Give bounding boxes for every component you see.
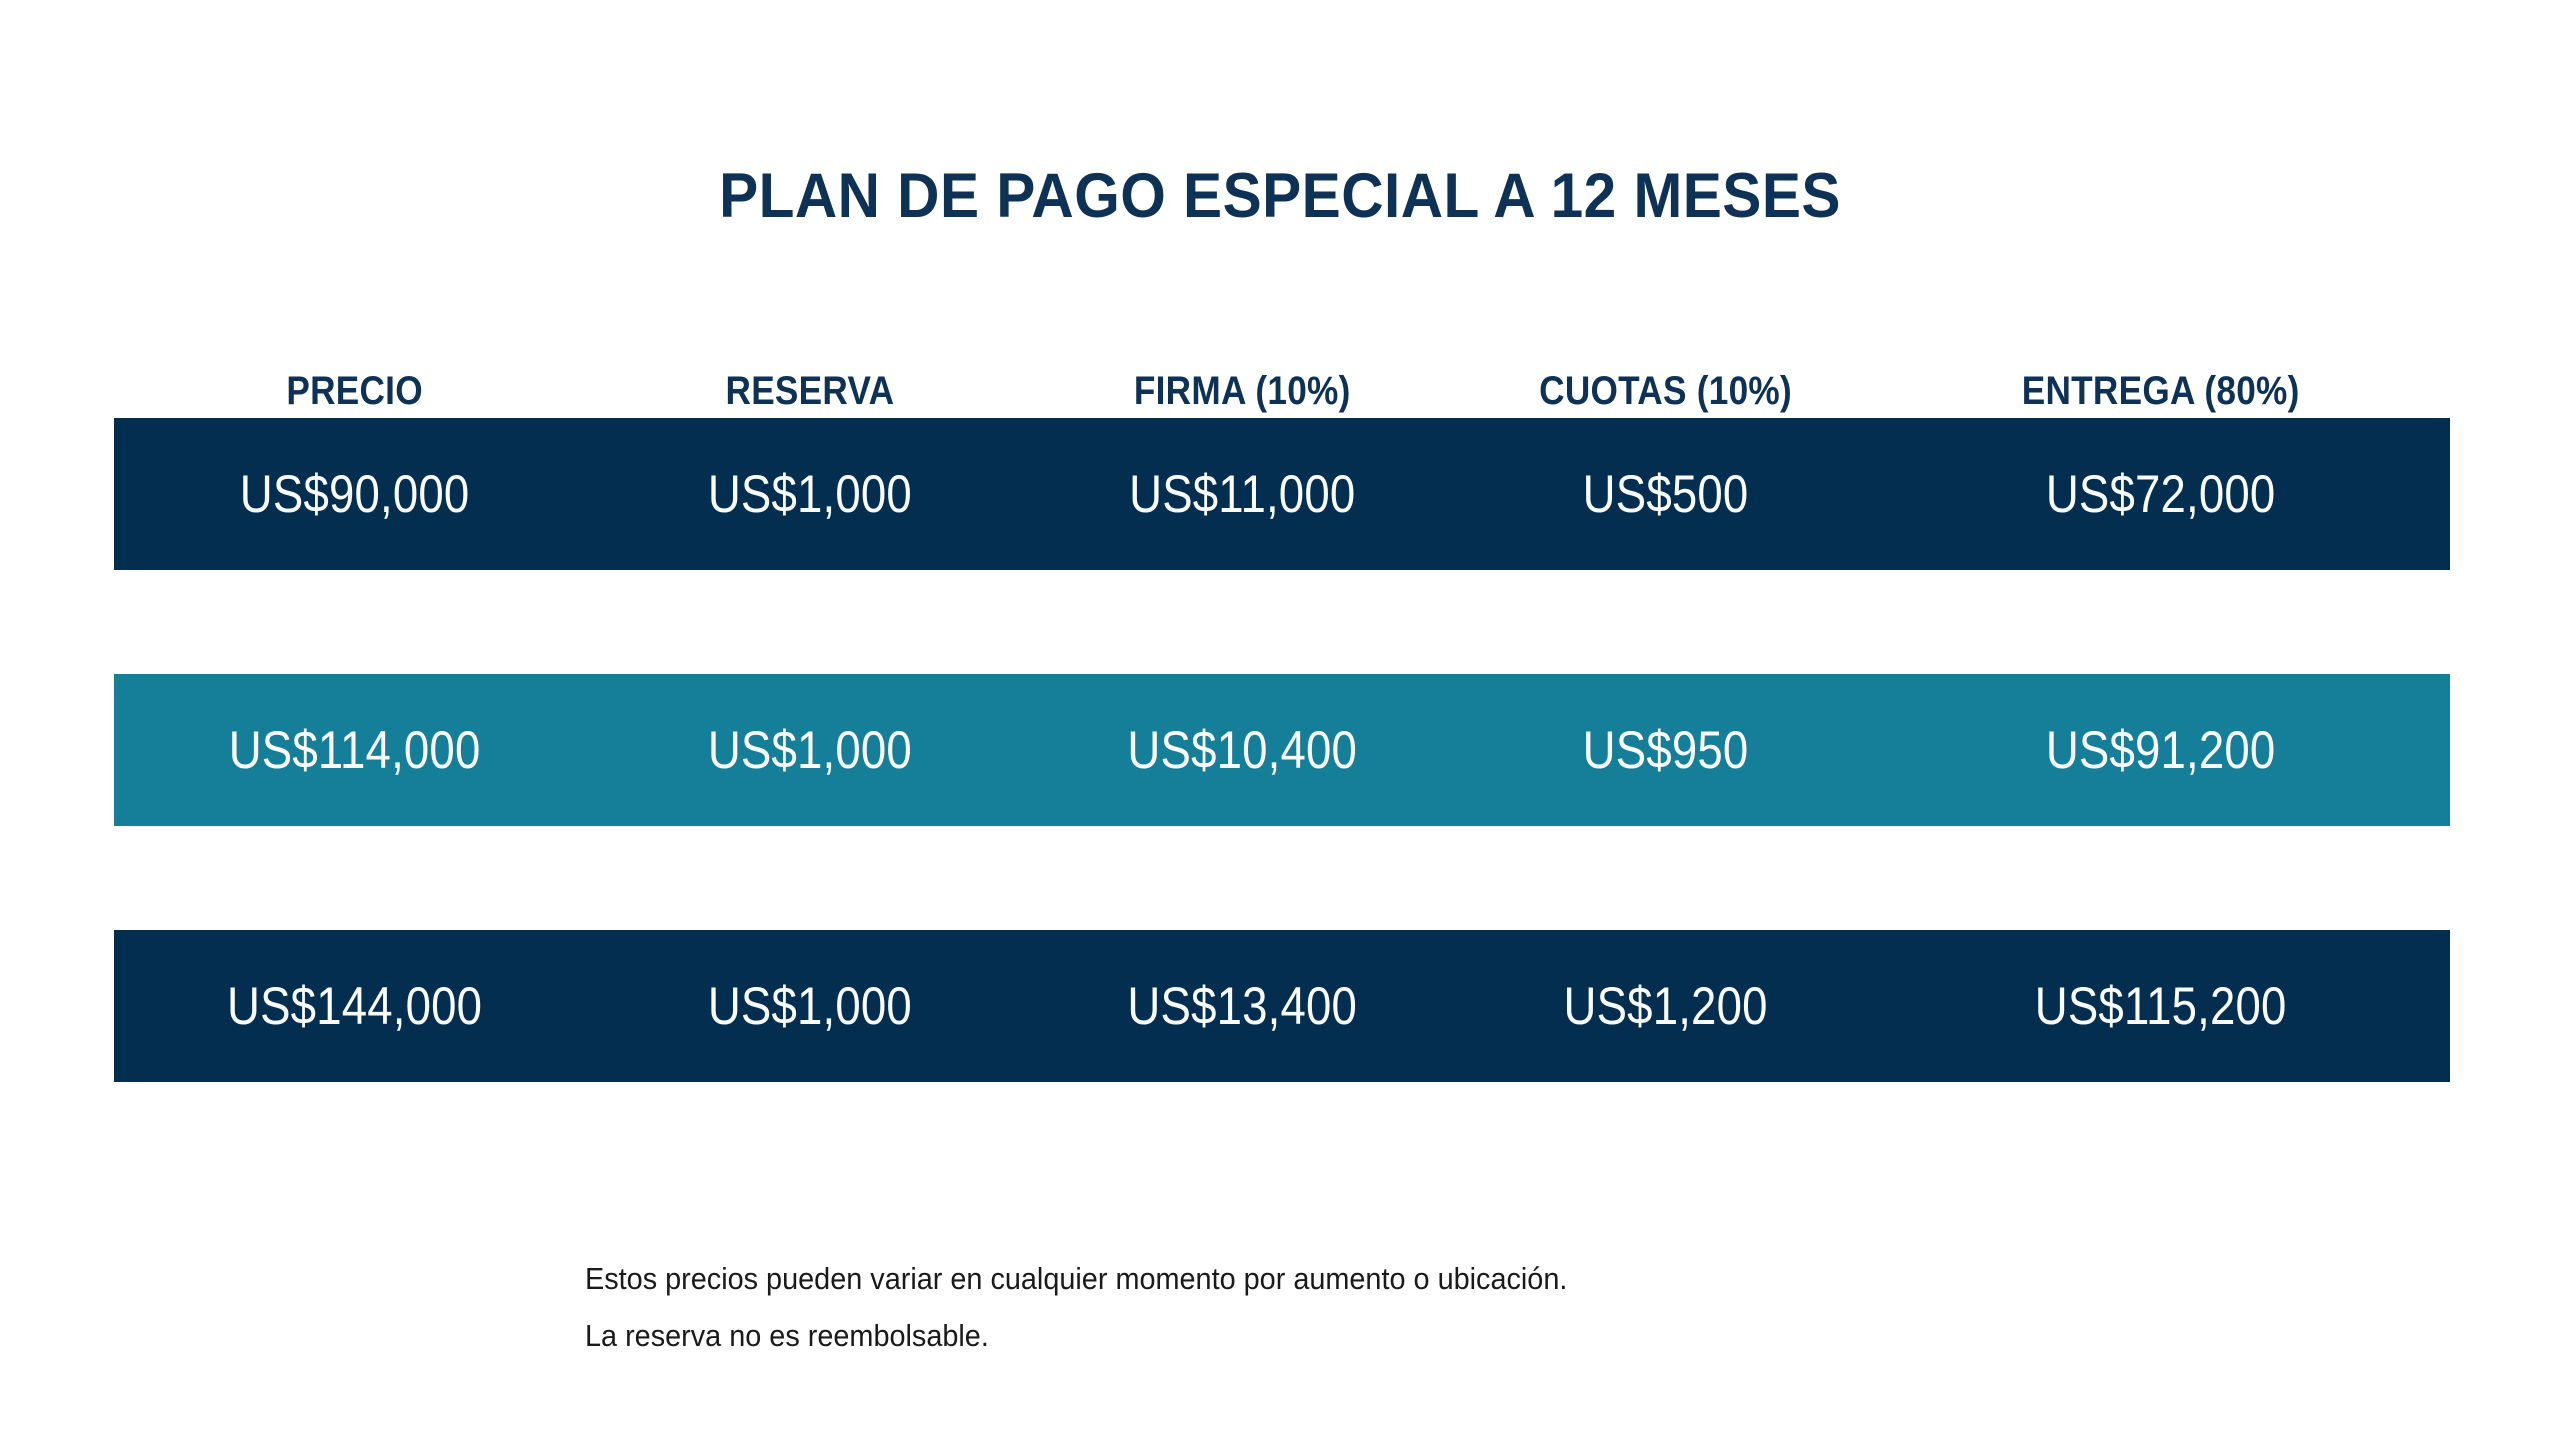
payment-plan-page: PLAN DE PAGO ESPECIAL A 12 MESES PRECIO … [0,0,2560,1440]
cell-precio: US$114,000 [148,720,562,781]
cell-entrega: US$72,000 [1911,464,2409,525]
cell-cuotas: US$500 [1488,464,1842,525]
footnote: Estos precios pueden variar en cualquier… [585,1250,1567,1364]
cell-firma: US$13,400 [1055,976,1429,1037]
footnote-line-2: La reserva no es reembolsable. [585,1307,1567,1364]
cell-precio: US$144,000 [148,976,562,1037]
cell-entrega: US$91,200 [1911,720,2409,781]
cell-reserva: US$1,000 [625,464,995,525]
cell-reserva: US$1,000 [625,720,995,781]
cell-cuotas: US$1,200 [1488,976,1842,1037]
cell-reserva: US$1,000 [625,976,995,1037]
payment-plan-table: PRECIO RESERVA FIRMA (10%) CUOTAS (10%) … [114,340,2450,1082]
cell-cuotas: US$950 [1488,720,1842,781]
cell-precio: US$90,000 [148,464,562,525]
cell-firma: US$11,000 [1055,464,1429,525]
column-header-firma: FIRMA (10%) [1051,369,1433,414]
page-title: PLAN DE PAGO ESPECIAL A 12 MESES [90,160,2471,232]
cell-firma: US$10,400 [1055,720,1429,781]
table-row: US$144,000 US$1,000 US$13,400 US$1,200 U… [114,930,2450,1082]
column-header-reserva: RESERVA [621,369,999,414]
column-header-entrega: ENTREGA (80%) [1905,369,2415,414]
footnote-line-1: Estos precios pueden variar en cualquier… [585,1250,1567,1307]
table-row: US$90,000 US$1,000 US$11,000 US$500 US$7… [114,418,2450,570]
cell-entrega: US$115,200 [1911,976,2409,1037]
table-header-row: PRECIO RESERVA FIRMA (10%) CUOTAS (10%) … [114,340,2450,418]
column-header-cuotas: CUOTAS (10%) [1484,369,1846,414]
column-header-precio: PRECIO [143,369,566,414]
table-row: US$114,000 US$1,000 US$10,400 US$950 US$… [114,674,2450,826]
